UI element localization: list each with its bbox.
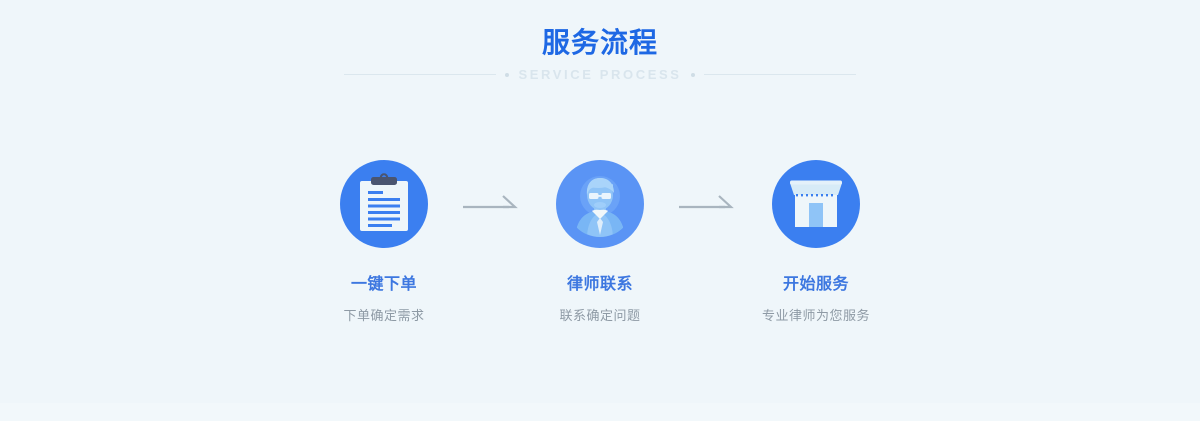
- connector-arrow-2: [670, 160, 746, 248]
- step-start-service[interactable]: 开始服务 专业律师为您服务: [748, 160, 884, 324]
- divider-right: [704, 74, 856, 75]
- connector-arrow-1: [454, 160, 530, 248]
- page-title: 服务流程: [0, 26, 1200, 60]
- lawyer-person-icon: [567, 171, 633, 237]
- step-icon-circle-service: [772, 160, 860, 248]
- step-title-start-service: 开始服务: [783, 270, 849, 294]
- step-icon-circle-order: [340, 160, 428, 248]
- arrow-right-icon: [463, 194, 521, 214]
- step-lawyer-contact[interactable]: 律师联系 联系确定问题: [532, 160, 668, 324]
- section-header: 服务流程 SERVICE PROCESS: [0, 0, 1200, 82]
- arrow-right-icon: [679, 194, 737, 214]
- step-title-order: 一键下单: [351, 270, 417, 294]
- step-title-lawyer-contact: 律师联系: [567, 270, 633, 294]
- step-desc-order: 下单确定需求: [343, 305, 424, 324]
- service-process-section: 服务流程 SERVICE PROCESS: [0, 0, 1200, 421]
- step-icon-circle-lawyer: [556, 160, 644, 248]
- subtitle-row: SERVICE PROCESS: [0, 67, 1200, 82]
- divider-dot-right: [691, 73, 695, 77]
- process-steps: 一键下单 下单确定需求: [0, 160, 1200, 324]
- step-order[interactable]: 一键下单 下单确定需求: [316, 160, 452, 324]
- clipboard-icon: [358, 175, 410, 233]
- divider-dot-left: [505, 73, 509, 77]
- bottom-band: [0, 403, 1200, 421]
- subtitle-english: SERVICE PROCESS: [518, 67, 681, 82]
- step-desc-lawyer-contact: 联系确定问题: [559, 305, 640, 324]
- divider-left: [344, 74, 496, 75]
- storefront-icon: [788, 179, 844, 229]
- step-desc-start-service: 专业律师为您服务: [762, 305, 870, 324]
